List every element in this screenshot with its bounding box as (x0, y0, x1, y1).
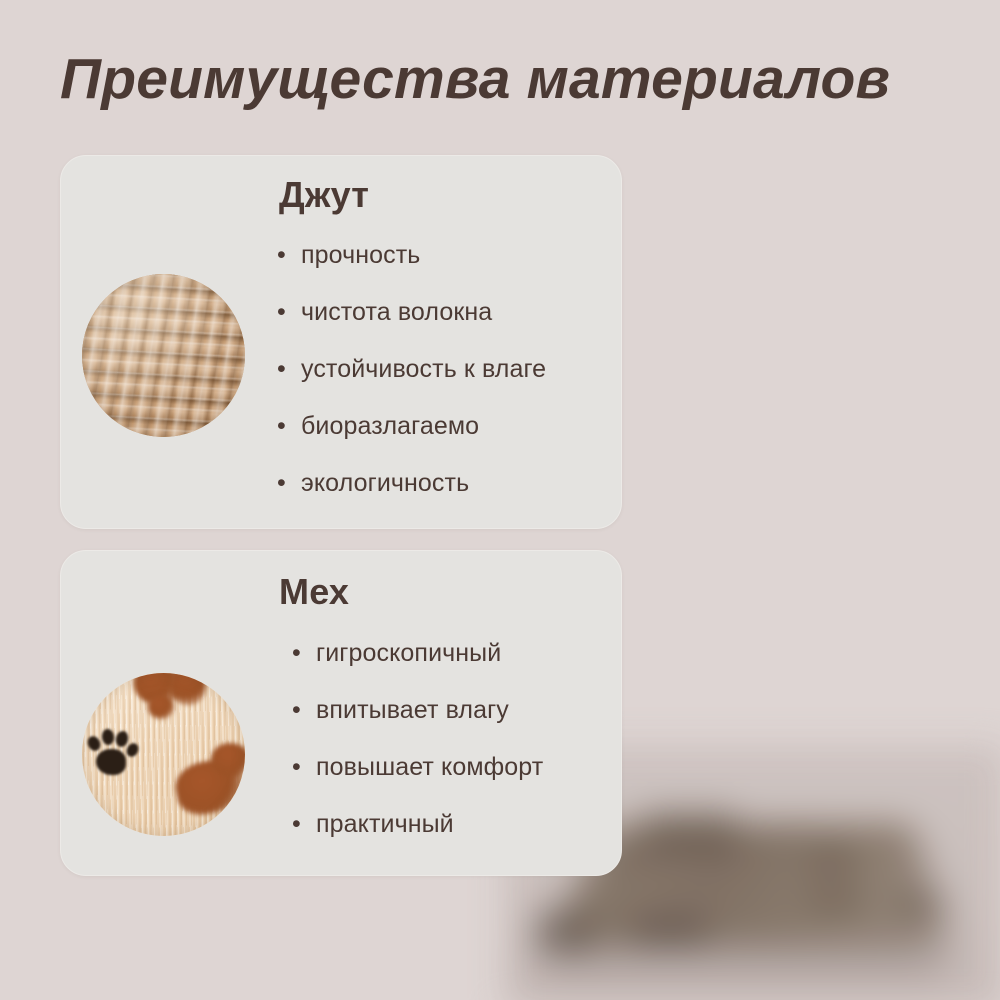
list-item-label: впитывает влагу (316, 696, 509, 725)
bullet-icon: • (277, 243, 301, 268)
mat-detail (810, 850, 856, 872)
mat-detail (535, 910, 591, 954)
paw-toe (124, 741, 140, 759)
fur-spot (148, 695, 174, 719)
benefit-list-fur: • гигроскопичный • впитывает влагу • пов… (292, 639, 543, 867)
bullet-icon: • (292, 755, 316, 780)
paw-pad (96, 749, 126, 775)
benefit-list-jute: • прочность • чистота волокна • устойчив… (277, 241, 546, 526)
paw-print-icon (86, 725, 142, 781)
list-item-label: гигроскопичный (316, 639, 501, 668)
list-item: • повышает комфорт (292, 753, 543, 810)
list-item: • прочность (277, 241, 546, 298)
mat-detail (810, 890, 862, 910)
bullet-icon: • (277, 357, 301, 382)
list-item: • практичный (292, 810, 543, 867)
list-item: • впитывает влагу (292, 696, 543, 753)
card-title-fur: Мех (279, 571, 349, 613)
card-title-jute: Джут (279, 174, 369, 216)
material-card-jute: Джут • прочность • чистота волокна • уст… (60, 155, 622, 529)
mat-detail (645, 811, 735, 857)
poster: Преимущества материалов Джут • прочность… (0, 0, 1000, 1000)
list-item: • экологичность (277, 469, 546, 526)
fur-paw-texture-icon (82, 673, 245, 836)
list-item: • биоразлагаемо (277, 412, 546, 469)
list-item: • чистота волокна (277, 298, 546, 355)
bullet-icon: • (292, 812, 316, 837)
list-item-label: устойчивость к влаге (301, 355, 546, 384)
jute-rope-texture-icon (82, 274, 245, 437)
page-title: Преимущества материалов (60, 46, 890, 112)
list-item: • устойчивость к влаге (277, 355, 546, 412)
mat-detail (897, 895, 945, 915)
list-item-label: прочность (301, 241, 420, 270)
bullet-icon: • (292, 641, 316, 666)
paw-toe (101, 728, 115, 745)
bullet-icon: • (277, 414, 301, 439)
bullet-icon: • (277, 300, 301, 325)
paw-toe (85, 734, 102, 753)
list-item-label: повышает комфорт (316, 753, 543, 782)
list-item-label: чистота волокна (301, 298, 492, 327)
list-item-label: экологичность (301, 469, 469, 498)
mat-detail (633, 920, 707, 946)
list-item-label: практичный (316, 810, 454, 839)
list-item: • гигроскопичный (292, 639, 543, 696)
bullet-icon: • (277, 471, 301, 496)
bullet-icon: • (292, 698, 316, 723)
material-card-fur: Мех • гигроскопичный • впитывает влагу •… (60, 550, 622, 876)
jute-rope-pattern (82, 274, 245, 437)
list-item-label: биоразлагаемо (301, 412, 479, 441)
